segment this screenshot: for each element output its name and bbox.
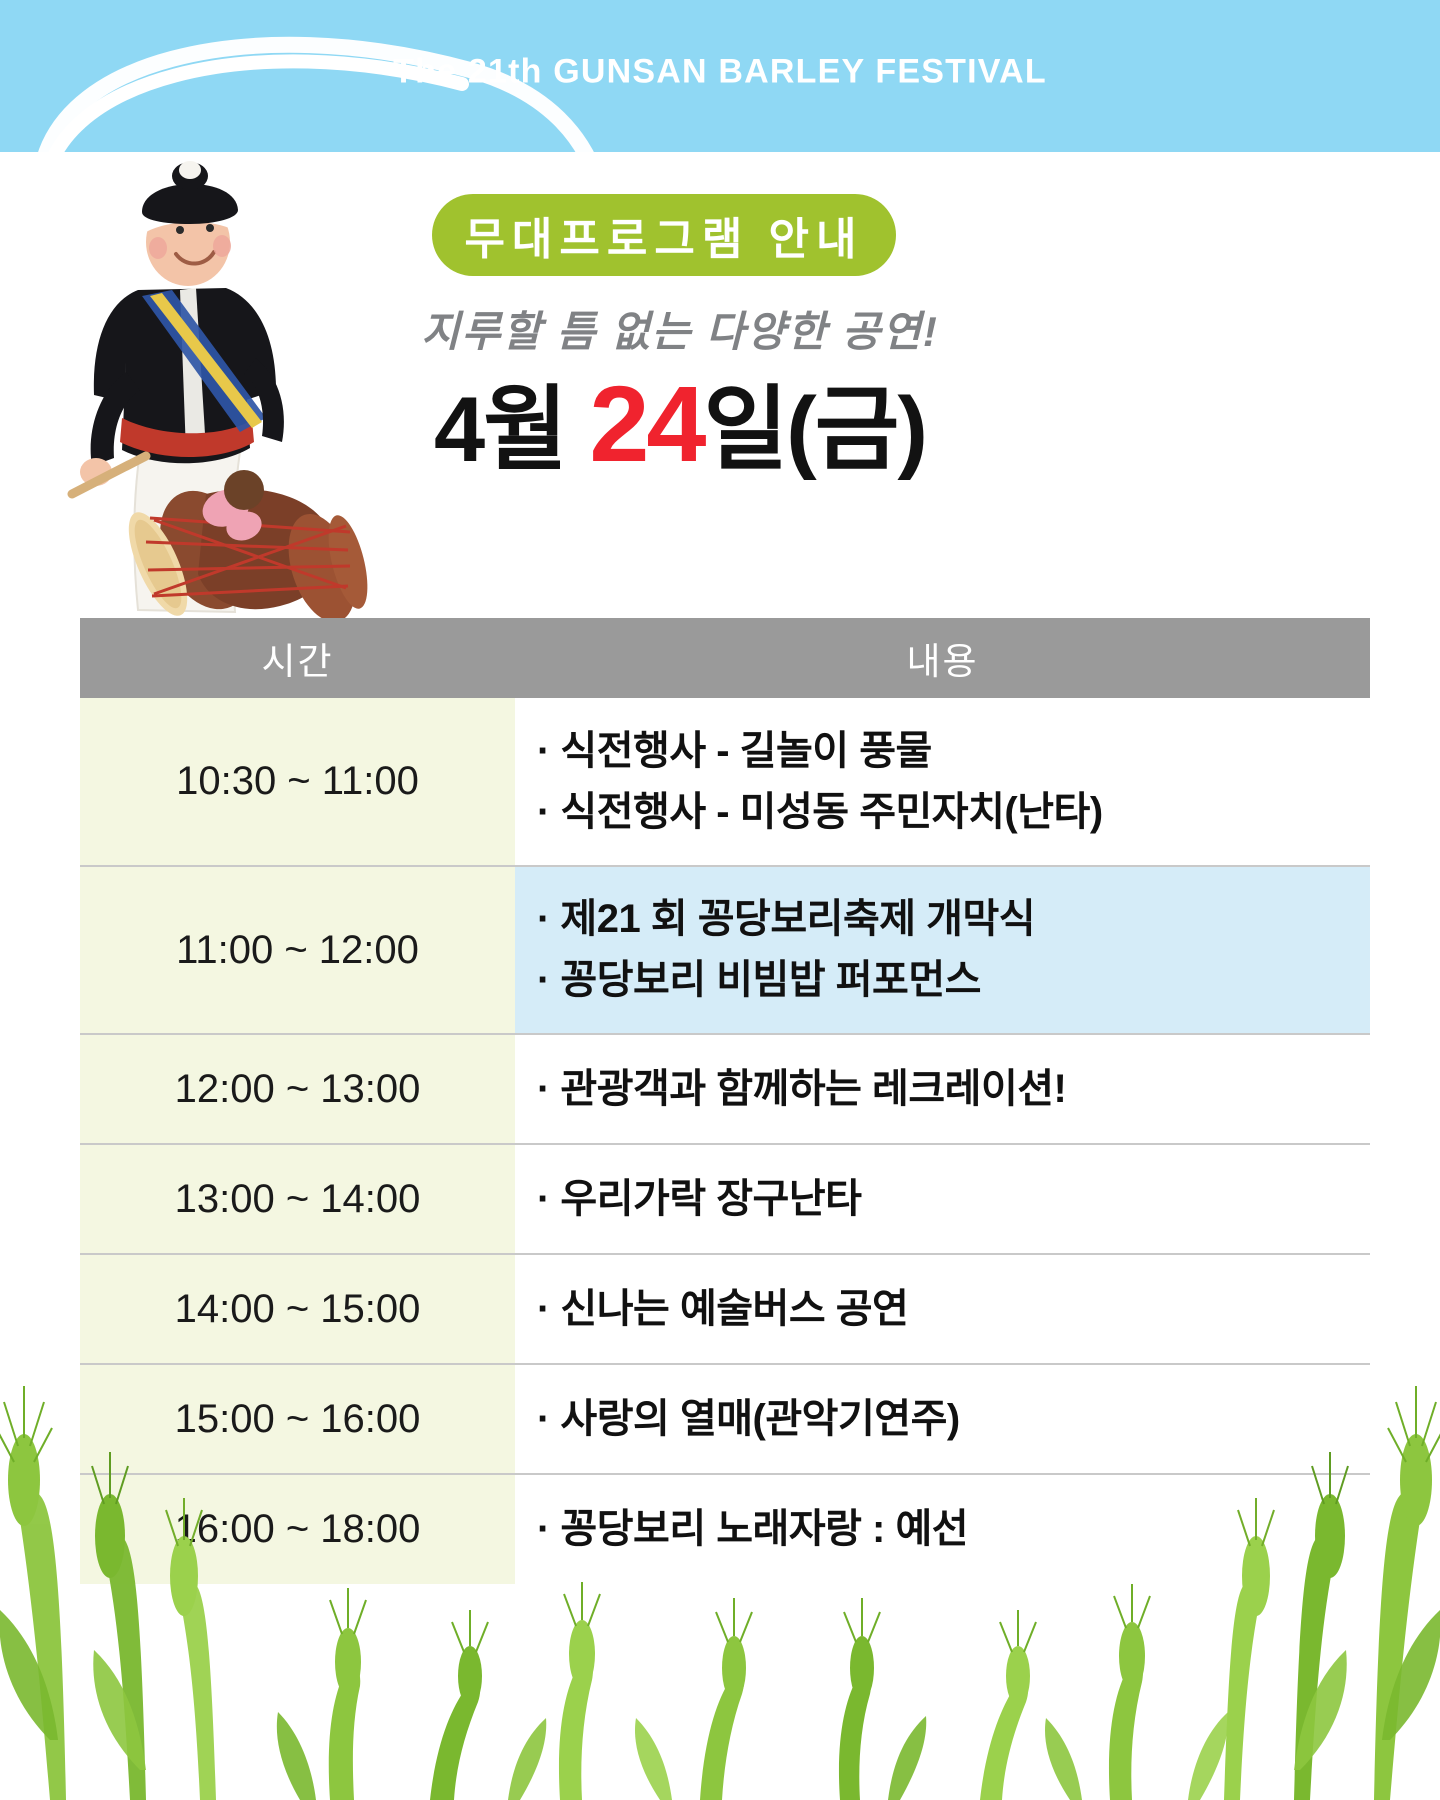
row-content-line: · 식전행사 - 길놀이 풍물	[537, 721, 1370, 782]
schedule-table: 시간 내용 10:30 ~ 11:00 · 식전행사 - 길놀이 풍물 · 식전…	[80, 618, 1370, 1584]
row-time: 16:00 ~ 18:00	[80, 1474, 515, 1584]
row-content-line: · 사랑의 열매(관악기연주)	[537, 1389, 1370, 1450]
row-content: · 관광객과 함께하는 레크레이션!	[515, 1034, 1370, 1144]
row-content: · 우리가락 장구난타	[515, 1144, 1370, 1254]
table-row: 10:30 ~ 11:00 · 식전행사 - 길놀이 풍물 · 식전행사 - 미…	[80, 698, 1370, 866]
row-content-line: · 우리가락 장구난타	[537, 1169, 1370, 1230]
table-header-row: 시간 내용	[80, 618, 1370, 698]
program-badge: 무대프로그램 안내	[432, 194, 896, 276]
table-row: 13:00 ~ 14:00 · 우리가락 장구난타	[80, 1144, 1370, 1254]
table-row: 16:00 ~ 18:00 · 꽁당보리 노래자랑 : 예선	[80, 1474, 1370, 1584]
column-header-time: 시간	[80, 618, 515, 698]
row-content-line: · 제21 회 꽁당보리축제 개막식	[537, 889, 1370, 950]
row-content-line: · 신나는 예술버스 공연	[537, 1279, 1370, 1340]
sky-band: The 21th GUNSAN BARLEY FESTIVAL	[0, 0, 1440, 152]
poster-date: 4월 24일(금)	[370, 370, 990, 478]
table-row-highlighted: 11:00 ~ 12:00 · 제21 회 꽁당보리축제 개막식 · 꽁당보리 …	[80, 866, 1370, 1034]
date-day: 24	[589, 363, 703, 484]
column-header-content: 내용	[515, 618, 1370, 698]
festival-title: The 21th GUNSAN BARLEY FESTIVAL	[0, 53, 1440, 92]
table-row: 12:00 ~ 13:00 · 관광객과 함께하는 레크레이션!	[80, 1034, 1370, 1144]
row-content: · 식전행사 - 길놀이 풍물 · 식전행사 - 미성동 주민자치(난타)	[515, 698, 1370, 866]
row-time: 10:30 ~ 11:00	[80, 698, 515, 866]
row-content: · 꽁당보리 노래자랑 : 예선	[515, 1474, 1370, 1584]
poster-subtitle: 지루할 틈 없는 다양한 공연!	[410, 298, 950, 359]
row-time: 12:00 ~ 13:00	[80, 1034, 515, 1144]
festival-program-poster: The 21th GUNSAN BARLEY FESTIVAL	[0, 0, 1440, 1800]
row-content: · 사랑의 열매(관악기연주)	[515, 1364, 1370, 1474]
row-content-line: · 꽁당보리 비빔밥 퍼포먼스	[537, 950, 1370, 1011]
row-content-line: · 꽁당보리 노래자랑 : 예선	[537, 1499, 1370, 1560]
barley-stalks-bottom-icon	[0, 1570, 1440, 1800]
schedule-table-wrapper: 시간 내용 10:30 ~ 11:00 · 식전행사 - 길놀이 풍물 · 식전…	[80, 618, 1370, 1584]
row-content: · 신나는 예술버스 공연	[515, 1254, 1370, 1364]
row-content-line: · 식전행사 - 미성동 주민자치(난타)	[537, 782, 1370, 843]
row-time: 14:00 ~ 15:00	[80, 1254, 515, 1364]
row-time: 15:00 ~ 16:00	[80, 1364, 515, 1474]
row-time: 13:00 ~ 14:00	[80, 1144, 515, 1254]
row-content: · 제21 회 꽁당보리축제 개막식 · 꽁당보리 비빔밥 퍼포먼스	[515, 866, 1370, 1034]
row-time: 11:00 ~ 12:00	[80, 866, 515, 1034]
date-day-suffix: 일(금)	[703, 379, 926, 481]
date-month: 4월	[434, 379, 589, 481]
program-badge-label: 무대프로그램 안내	[464, 203, 863, 267]
row-content-line: · 관광객과 함께하는 레크레이션!	[537, 1059, 1370, 1120]
table-row: 15:00 ~ 16:00 · 사랑의 열매(관악기연주)	[80, 1364, 1370, 1474]
schedule-table-body: 10:30 ~ 11:00 · 식전행사 - 길놀이 풍물 · 식전행사 - 미…	[80, 698, 1370, 1584]
table-row: 14:00 ~ 15:00 · 신나는 예술버스 공연	[80, 1254, 1370, 1364]
